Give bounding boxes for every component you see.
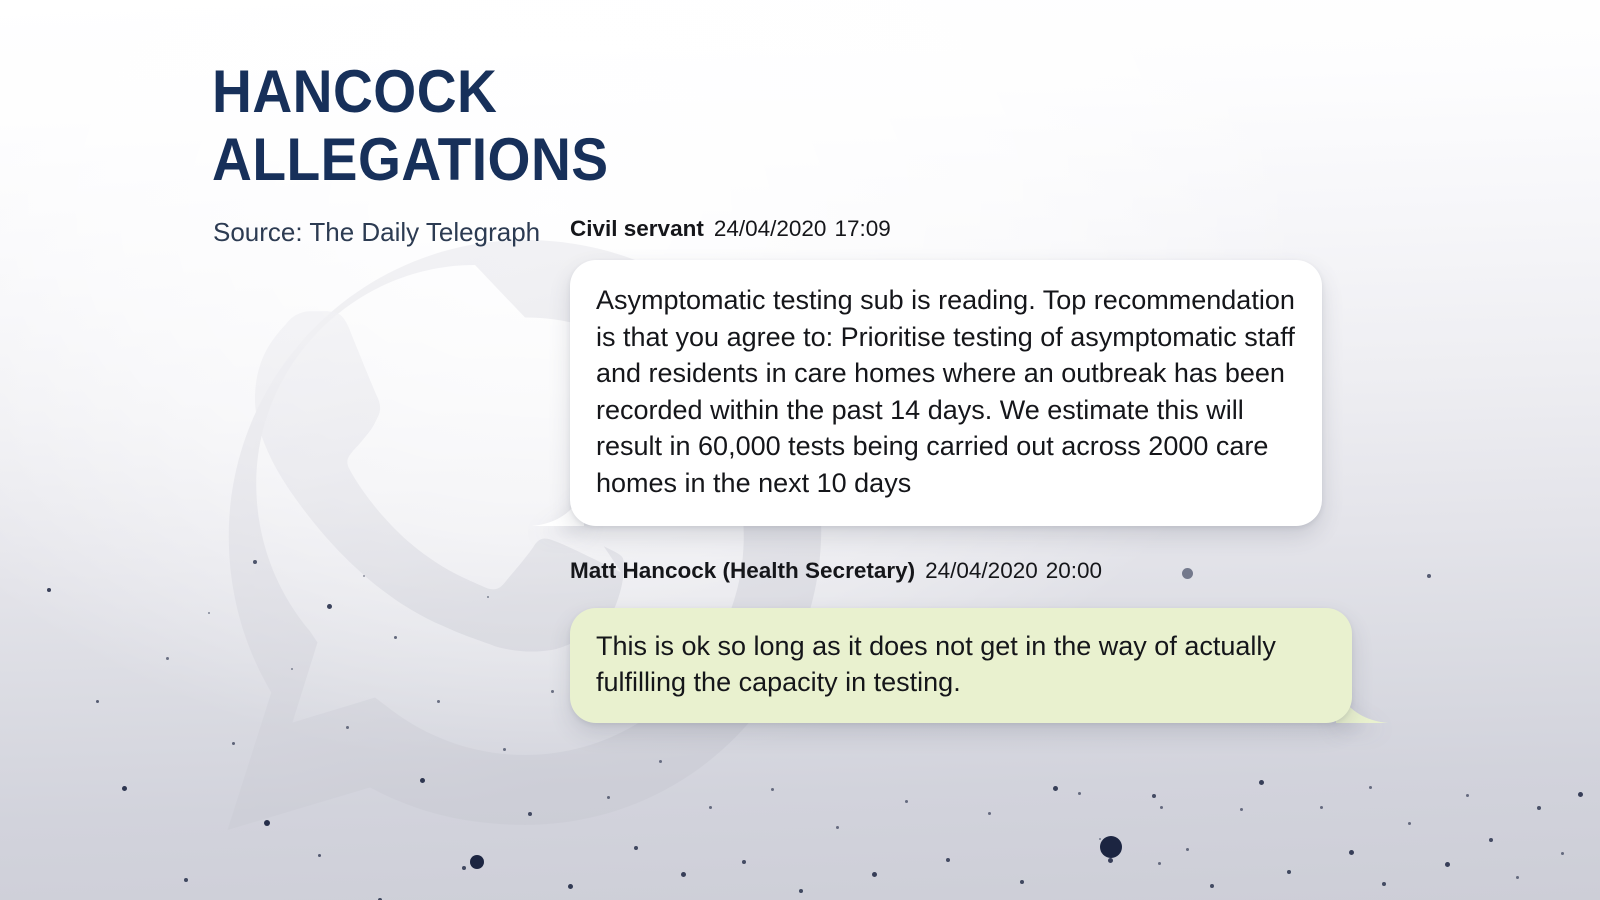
headline-line-2: ALLEGATIONS bbox=[212, 126, 690, 194]
message-time-1: 17:09 bbox=[834, 216, 890, 241]
page-title: HANCOCK ALLEGATIONS bbox=[212, 58, 732, 194]
message-meta-2: Matt Hancock (Health Secretary)24/04/202… bbox=[570, 556, 1360, 586]
headline-line-1: HANCOCK bbox=[212, 58, 690, 126]
message-date-1: 24/04/2020 bbox=[714, 216, 827, 241]
message-bubble-incoming: Asymptomatic testing sub is reading. Top… bbox=[570, 260, 1322, 526]
message-sender-1: Civil servant bbox=[570, 216, 704, 241]
message-time-2: 20:00 bbox=[1046, 558, 1102, 583]
message-date-2: 24/04/2020 bbox=[925, 558, 1038, 583]
message-bubble-incoming-wrap: Asymptomatic testing sub is reading. Top… bbox=[570, 260, 1322, 526]
source-credit: Source: The Daily Telegraph bbox=[213, 216, 540, 248]
message-sender-2: Matt Hancock (Health Secretary) bbox=[570, 558, 915, 583]
message-meta-1: Civil servant24/04/202017:09 bbox=[570, 214, 1360, 244]
message-bubble-outgoing: This is ok so long as it does not get in… bbox=[570, 608, 1352, 723]
message-bubble-outgoing-wrap: This is ok so long as it does not get in… bbox=[570, 608, 1352, 723]
chat-thread: Civil servant24/04/202017:09 Asymptomati… bbox=[570, 214, 1360, 723]
infographic-canvas: HANCOCK ALLEGATIONS Source: The Daily Te… bbox=[0, 0, 1600, 900]
